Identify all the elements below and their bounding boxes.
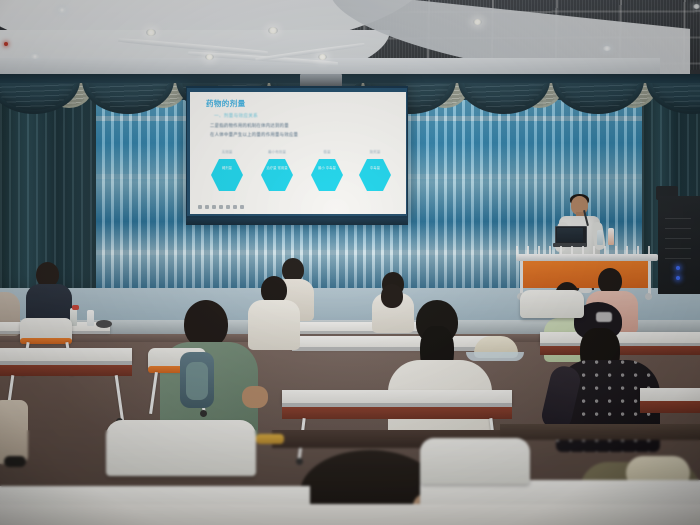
person-shoe — [4, 456, 26, 467]
hexagon-item: 无效量 阈剂量 — [206, 150, 248, 202]
podium-leg-right — [648, 261, 651, 295]
downlight-5 — [473, 19, 482, 25]
laptop-display — [557, 228, 583, 242]
slide-body-line-1: 二是指药物作用的机制在体内达到的量 — [210, 123, 289, 129]
curtain-rail — [0, 74, 700, 83]
slide-canvas[interactable]: 药物的剂量 一、剂量与效应关系 二是指药物作用的机制在体内达到的量 在人体中量产… — [190, 92, 406, 214]
computer-mouse — [96, 320, 112, 328]
desk-foreground-front — [0, 504, 700, 525]
ceiling — [0, 0, 700, 78]
hexagon-shape — [359, 158, 391, 192]
hexagon-item: 最小有效量 治疗量 常用量 — [256, 150, 298, 202]
podium-front-panel — [520, 261, 650, 288]
person-torso — [248, 300, 300, 350]
hexagon-text: 最小 中毒量 — [311, 166, 343, 170]
projection-screen: 药物的剂量 一、剂量与效应关系 二是指药物作用的机制在体内达到的量 在人体中量产… — [186, 86, 408, 222]
shape-icon[interactable] — [226, 205, 230, 209]
pointer-icon[interactable] — [219, 205, 223, 209]
undo-icon[interactable] — [233, 205, 237, 209]
hexagon-text: 阈剂量 — [211, 166, 243, 170]
slide-title: 药物的剂量 — [206, 98, 246, 109]
person-head — [381, 284, 403, 308]
desk-caster — [296, 458, 303, 465]
chair-caster — [200, 410, 207, 417]
more-icon[interactable] — [240, 205, 244, 209]
fire-alarm-indicator-icon — [4, 42, 8, 46]
downlight-9 — [693, 4, 700, 9]
desk-object — [256, 434, 284, 444]
rack-led-icon — [676, 266, 680, 270]
bottle-cap — [72, 305, 79, 310]
slide-annotation-toolbar[interactable] — [194, 203, 290, 211]
downlight-3 — [205, 54, 214, 60]
podium-leg-left — [520, 261, 523, 295]
cap-logo — [596, 312, 612, 322]
podium-caster — [645, 293, 652, 300]
downlight-8 — [603, 46, 611, 51]
slide-subtitle: 一、剂量与效应关系 — [214, 113, 258, 119]
eraser-icon[interactable] — [212, 205, 216, 209]
downlight-4 — [318, 54, 327, 60]
chair-stage-row — [520, 290, 584, 318]
desk-skirt — [540, 346, 700, 355]
hexagon-shape — [211, 158, 243, 192]
downlight-6 — [58, 7, 66, 13]
hexagon-label: 最小有效量 — [256, 150, 298, 155]
hexagon-label: 无效量 — [206, 150, 248, 155]
screen-frame: 药物的剂量 一、剂量与效应关系 二是指药物作用的机制在体内达到的量 在人体中量产… — [187, 88, 407, 216]
hexagon-item: 致死量 中毒量 — [354, 150, 396, 202]
hexagon-text: 治疗量 常用量 — [261, 166, 293, 170]
desk-skirt — [282, 407, 512, 419]
desk-row3-center — [282, 390, 512, 404]
hexagon-shape — [261, 158, 293, 192]
water-bottle — [597, 230, 603, 245]
downlight-1 — [146, 29, 156, 36]
hexagon-text: 中毒量 — [359, 166, 391, 170]
pen-icon[interactable] — [198, 205, 202, 209]
chair-foreground-left — [106, 420, 256, 476]
av-equipment-rack — [658, 196, 700, 294]
hexagon-diagram: 无效量 阈剂量 最小有效量 治疗量 常用量 极量 最小 中毒量 — [206, 150, 396, 202]
thermos-bottle — [608, 228, 614, 245]
slide-body-line-2: 在人体中量产生以上的量的作用量与效应量 — [210, 132, 298, 138]
sun-visor-brim — [466, 352, 524, 361]
hexagon-label: 极量 — [306, 150, 348, 155]
hexagon-item: 极量 最小 中毒量 — [306, 150, 348, 202]
downlight-7 — [31, 54, 39, 59]
desk-skirt — [640, 401, 700, 413]
person-head — [184, 300, 228, 348]
desk-skirt — [0, 365, 132, 376]
hexagon-shape — [311, 158, 343, 192]
podium-tabletop — [516, 254, 658, 261]
chair-foreground-right — [420, 438, 530, 484]
screen-lower-frame — [186, 218, 408, 225]
desk-row3-right — [640, 388, 700, 402]
desk-shadow-band — [500, 424, 700, 440]
person-arm — [242, 386, 268, 408]
desk-edge — [292, 347, 492, 351]
backpack-pocket — [186, 362, 208, 400]
rack-led-icon — [676, 276, 680, 280]
person-legs — [0, 400, 28, 464]
downlight-2 — [268, 27, 278, 34]
desk-row2-left — [0, 348, 132, 362]
lecture-hall-photo: 药物的剂量 一、剂量与效应关系 二是指药物作用的机制在体内达到的量 在人体中量产… — [0, 0, 700, 525]
hexagon-label: 致死量 — [354, 150, 396, 155]
water-bottle — [87, 310, 94, 326]
highlighter-icon[interactable] — [205, 205, 209, 209]
